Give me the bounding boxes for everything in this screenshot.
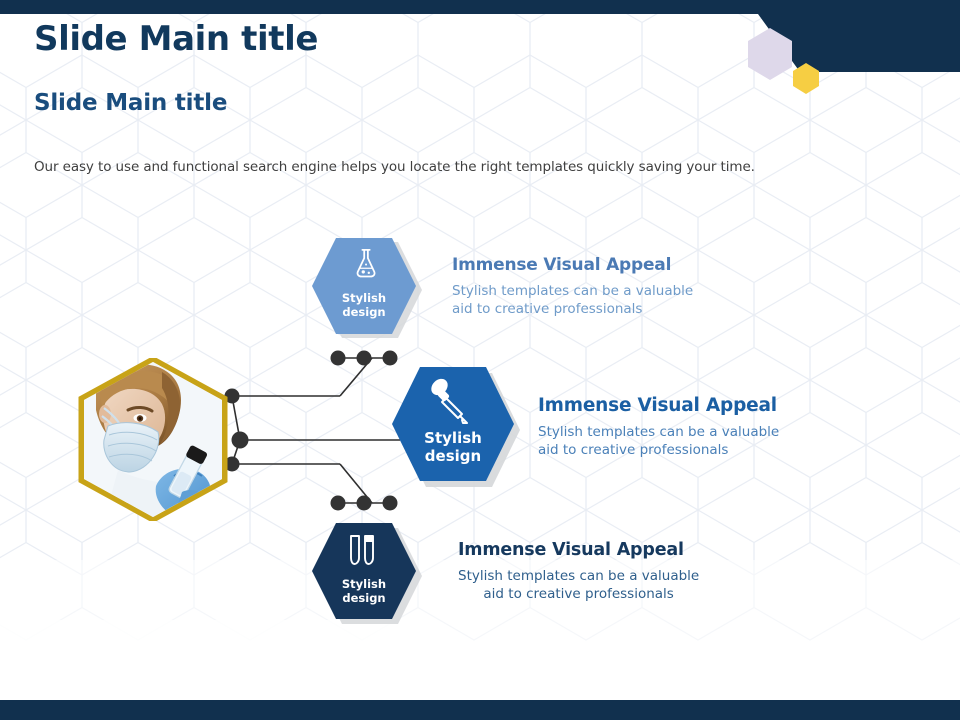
- svg-text:Stylish: Stylish: [342, 291, 386, 305]
- item-body-line1-3: Stylish templates can be a valuable: [458, 568, 699, 584]
- connector-node: [383, 351, 398, 366]
- hex-label-line2: design: [342, 305, 385, 319]
- text-block-2: Immense Visual Appeal Stylish templates …: [538, 396, 779, 460]
- item-body-line1-1: Stylish templates can be a valuable: [452, 283, 693, 299]
- hex-label-line1: Stylish: [342, 291, 386, 305]
- text-block-1: Immense Visual Appeal Stylish templates …: [452, 256, 693, 318]
- lead-paragraph: Our easy to use and functional search en…: [34, 158, 755, 177]
- svg-text:design: design: [342, 305, 385, 319]
- item-heading-1: Immense Visual Appeal: [452, 256, 693, 275]
- hex-label-line1: Stylish: [342, 577, 386, 591]
- hex-node-2[interactable]: Stylish design: [386, 365, 526, 495]
- hex-label-line2: design: [342, 591, 385, 605]
- connector-node: [232, 432, 249, 449]
- item-body-line2-3: aid to creative professionals: [483, 586, 673, 602]
- hex-label-line1: Stylish: [424, 429, 482, 447]
- item-body-line2-2: aid to creative professionals: [538, 442, 728, 458]
- scientist-photo: [78, 358, 228, 521]
- slide-canvas: Slide Main title Slide Main title Our ea…: [0, 0, 960, 720]
- connector-node: [331, 351, 346, 366]
- item-body-line1-2: Stylish templates can be a valuable: [538, 424, 779, 440]
- photo-hexagon[interactable]: [78, 358, 228, 521]
- bottom-navy-band: [0, 700, 960, 720]
- page-title: Slide Main title: [34, 22, 318, 58]
- hex-node-1[interactable]: Stylish design: [308, 236, 426, 344]
- item-heading-2: Immense Visual Appeal: [538, 396, 779, 416]
- hex-node-3[interactable]: Stylish design: [308, 520, 426, 630]
- connector-node: [331, 496, 346, 511]
- lavender-hexagon-icon: [748, 28, 792, 80]
- svg-text:design: design: [342, 591, 385, 605]
- connector-node: [357, 496, 372, 511]
- yellow-hexagon-icon: [793, 63, 819, 94]
- page-subtitle: Slide Main title: [34, 91, 318, 115]
- connector-node: [357, 351, 372, 366]
- accent-hexagons-decoration: [740, 10, 940, 130]
- connector-node: [383, 496, 398, 511]
- text-block-3: Immense Visual Appeal Stylish templates …: [458, 541, 699, 604]
- svg-text:design: design: [425, 447, 481, 465]
- slide-header: Slide Main title Slide Main title: [34, 22, 318, 115]
- item-heading-3: Immense Visual Appeal: [458, 541, 699, 560]
- svg-text:Stylish: Stylish: [342, 577, 386, 591]
- item-body-line2-1: aid to creative professionals: [452, 301, 642, 317]
- hex-label-line2: design: [425, 447, 481, 465]
- svg-text:Stylish: Stylish: [424, 429, 482, 447]
